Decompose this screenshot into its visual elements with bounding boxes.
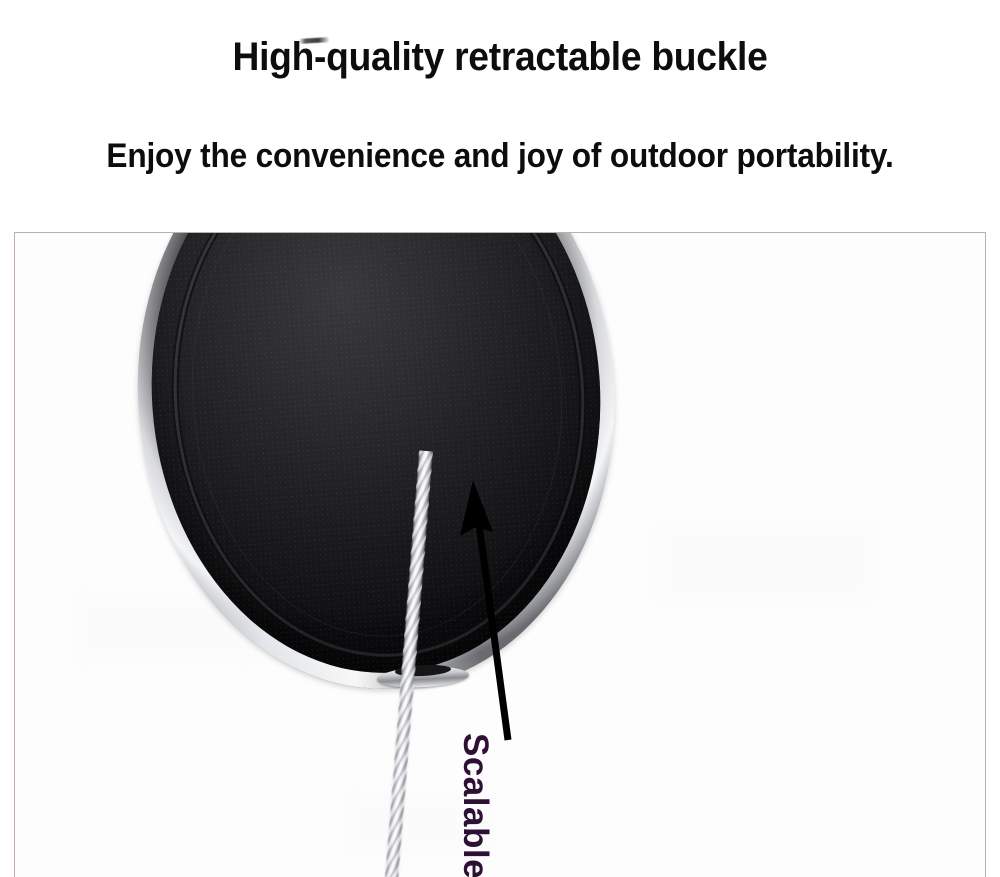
scalable-caption: Scalable [458,733,493,877]
page-title: High-quality retractable buckle [35,31,965,83]
product-photo-frame: Scalable [14,232,986,877]
scalable-arrow-icon [445,478,535,748]
headline-block: High-quality retractable buckle Enjoy th… [0,0,1000,232]
product-detail-page: High-quality retractable buckle Enjoy th… [0,0,1000,877]
background-artifact [655,523,875,603]
retractable-buckle-disc [130,232,630,689]
page-subtitle: Enjoy the convenience and joy of outdoor… [35,133,965,179]
product-photo: Scalable [15,233,985,877]
